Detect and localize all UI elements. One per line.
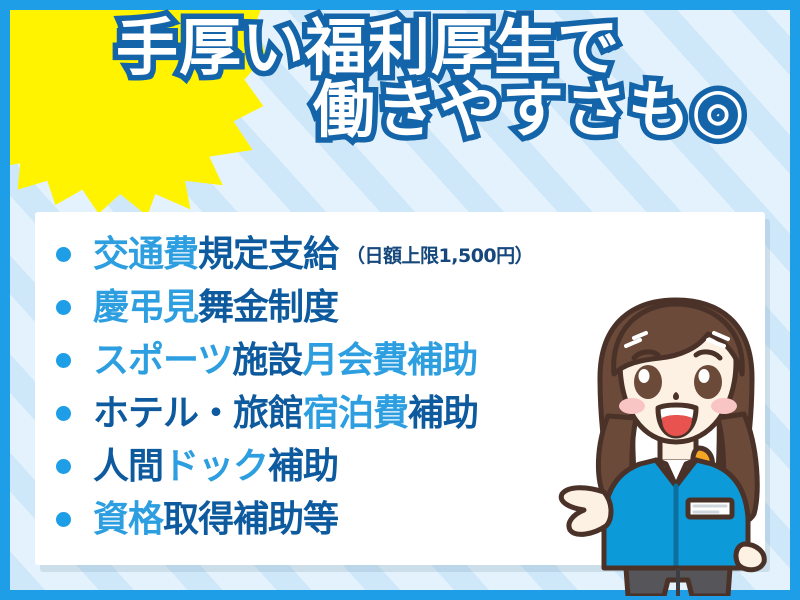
- benefit-label: 人間ドック補助: [93, 449, 338, 485]
- bullet-dot-icon: [56, 247, 71, 262]
- bullet-dot-icon: [56, 406, 71, 421]
- benefit-segment-light: 慶弔見: [93, 287, 198, 328]
- benefit-segment-tail: 月会費補助: [302, 340, 477, 381]
- benefit-segment-dark: 規定支給: [198, 234, 338, 275]
- benefit-note: （日額上限1,500円）: [346, 241, 533, 268]
- benefit-segment-light: 資格: [93, 499, 163, 540]
- bullet-dot-icon: [56, 300, 71, 315]
- benefit-label: ホテル・旅館宿泊費補助: [93, 396, 478, 432]
- yellow-burst-shape: [10, 10, 266, 216]
- benefit-segment-dark: 舞金制度: [198, 287, 338, 328]
- staff-character-illustration: [548, 296, 800, 596]
- list-item: 交通費規定支給 （日額上限1,500円）: [52, 228, 692, 281]
- benefit-segment-tail: 補助: [268, 446, 338, 487]
- benefit-label: 資格取得補助等: [93, 502, 338, 538]
- benefit-segment-dark: 取得補助等: [163, 499, 338, 540]
- benefit-segment-light: 宿泊費: [303, 393, 408, 434]
- benefit-segment-dark: ホテル・旅館: [93, 393, 303, 434]
- benefit-segment-dark: 人間: [93, 446, 163, 487]
- benefit-label: スポーツ施設月会費補助: [93, 343, 477, 379]
- benefit-segment-light: ドック: [163, 446, 268, 487]
- benefit-label: 交通費規定支給: [93, 237, 338, 273]
- benefit-segment-light: スポーツ: [93, 340, 232, 381]
- benefit-segment-dark: 施設: [232, 340, 302, 381]
- benefit-segment-light: 交通費: [93, 234, 198, 275]
- bullet-dot-icon: [56, 512, 71, 527]
- benefit-label: 慶弔見舞金制度: [93, 290, 338, 326]
- benefit-segment-end: 補助: [408, 393, 478, 434]
- benefits-banner: 手厚い福利厚生で 働きやすさも◎ 交通費規定支給 （日額上限1,500円） 慶弔…: [0, 0, 800, 600]
- bullet-dot-icon: [56, 353, 71, 368]
- bullet-dot-icon: [56, 459, 71, 474]
